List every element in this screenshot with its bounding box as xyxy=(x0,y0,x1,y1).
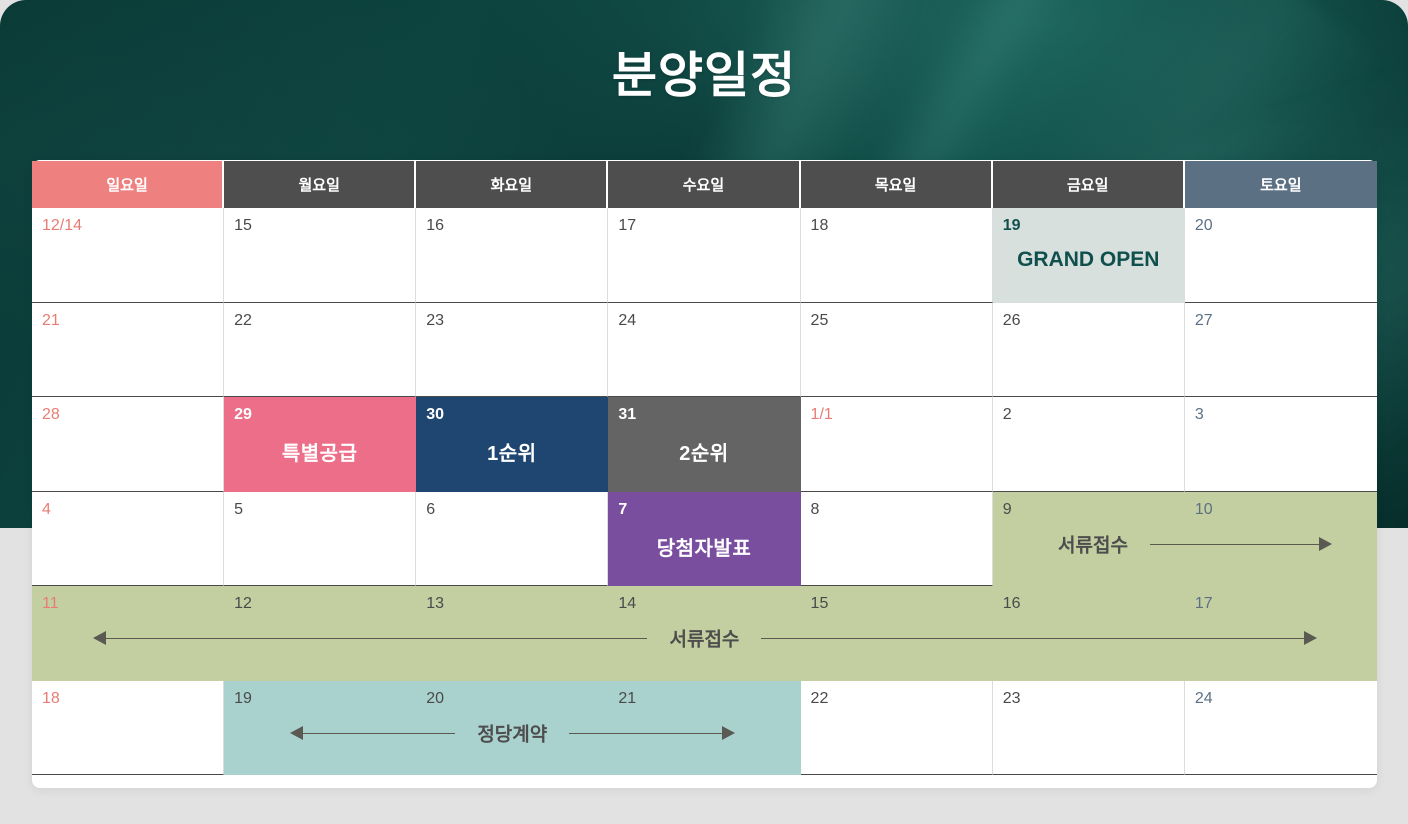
day-number: 21 xyxy=(618,691,636,707)
day-number: 20 xyxy=(1195,218,1213,234)
calendar-day-cell[interactable]: 15 xyxy=(801,586,993,681)
calendar-day-cell[interactable]: 14 xyxy=(608,586,800,681)
day-number: 16 xyxy=(1003,596,1021,612)
calendar-day-cell[interactable]: 24 xyxy=(608,303,800,398)
day-number: 10 xyxy=(1195,502,1213,518)
calendar-week-row: 4567당첨자발표8910910서류접수 xyxy=(32,492,1377,587)
calendar-day-cell[interactable]: 22 xyxy=(801,681,993,776)
day-number: 24 xyxy=(618,313,636,329)
calendar-day-cell[interactable]: 21 xyxy=(32,303,224,398)
calendar-day-cell[interactable]: 22 xyxy=(224,303,416,398)
calendar-week-row: 21222324252627 xyxy=(32,303,1377,398)
calendar-day-cell[interactable]: 15 xyxy=(224,208,416,303)
calendar-day-cell[interactable]: 2 xyxy=(993,397,1185,492)
day-of-week-label: 목요일 xyxy=(875,174,916,195)
calendar-header-row: 일요일월요일화요일수요일목요일금요일토요일 xyxy=(32,161,1377,208)
calendar-week-row: 1112131415161711121314151617서류접수 xyxy=(32,586,1377,681)
day-number: 15 xyxy=(811,596,829,612)
day-number: 28 xyxy=(42,407,60,423)
calendar-day-cell[interactable]: 11 xyxy=(32,586,224,681)
day-of-week-label: 수요일 xyxy=(683,174,724,195)
day-number: 23 xyxy=(1003,691,1021,707)
day-number: 25 xyxy=(811,313,829,329)
calendar-day-cell[interactable]: 20 xyxy=(1185,208,1377,303)
calendar-day-cell[interactable]: 17 xyxy=(608,208,800,303)
calendar-day-cell[interactable]: 25 xyxy=(801,303,993,398)
day-of-week-label: 토요일 xyxy=(1260,174,1301,195)
calendar-day-cell[interactable]: 301순위 xyxy=(416,397,608,492)
calendar-day-cell[interactable]: 1/1 xyxy=(801,397,993,492)
calendar-day-cell[interactable]: 19 xyxy=(224,681,416,776)
day-number: 7 xyxy=(618,502,627,518)
calendar-day-cell[interactable]: 16 xyxy=(993,586,1185,681)
day-number: 23 xyxy=(426,313,444,329)
day-number: 17 xyxy=(618,218,636,234)
day-number: 14 xyxy=(618,596,636,612)
calendar-grid: 12/141516171819GRAND OPEN202122232425262… xyxy=(32,208,1377,775)
day-of-week-label: 금요일 xyxy=(1067,174,1108,195)
day-number: 3 xyxy=(1195,407,1204,423)
calendar-day-cell[interactable]: 27 xyxy=(1185,303,1377,398)
day-of-week-label: 월요일 xyxy=(298,174,339,195)
day-number: 19 xyxy=(234,691,252,707)
calendar-day-cell[interactable]: 10 xyxy=(1185,492,1377,587)
day-number: 22 xyxy=(234,313,252,329)
day-number: 13 xyxy=(426,596,444,612)
day-number: 19 xyxy=(1003,218,1021,234)
day-number: 30 xyxy=(426,407,444,423)
event-label: 2순위 xyxy=(608,437,799,466)
day-number: 18 xyxy=(811,218,829,234)
day-number: 22 xyxy=(811,691,829,707)
calendar-day-cell[interactable]: 18 xyxy=(801,208,993,303)
calendar-day-cell[interactable]: 9 xyxy=(993,492,1185,587)
day-of-week-header-2: 화요일 xyxy=(416,161,608,208)
calendar-day-cell[interactable]: 5 xyxy=(224,492,416,587)
calendar-day-cell[interactable]: 4 xyxy=(32,492,224,587)
day-number: 15 xyxy=(234,218,252,234)
calendar-day-cell[interactable]: 23 xyxy=(993,681,1185,776)
calendar-day-cell[interactable]: 19GRAND OPEN xyxy=(993,208,1185,303)
event-label: 특별공급 xyxy=(224,437,415,466)
day-number: 12/14 xyxy=(42,218,82,234)
calendar-day-cell[interactable]: 13 xyxy=(416,586,608,681)
day-number: 11 xyxy=(42,596,59,612)
day-of-week-header-1: 월요일 xyxy=(224,161,416,208)
calendar-day-cell[interactable]: 26 xyxy=(993,303,1185,398)
day-of-week-header-4: 목요일 xyxy=(801,161,993,208)
day-number: 2 xyxy=(1003,407,1012,423)
day-number: 31 xyxy=(618,407,636,423)
calendar-day-cell[interactable]: 12 xyxy=(224,586,416,681)
day-number: 16 xyxy=(426,218,444,234)
calendar-day-cell[interactable]: 28 xyxy=(32,397,224,492)
calendar-day-cell[interactable]: 12/14 xyxy=(32,208,224,303)
calendar-day-cell[interactable]: 24 xyxy=(1185,681,1377,776)
calendar-day-cell[interactable]: 3 xyxy=(1185,397,1377,492)
day-of-week-label: 일요일 xyxy=(106,174,147,195)
event-label: 당첨자발표 xyxy=(608,532,799,561)
day-of-week-header-3: 수요일 xyxy=(608,161,800,208)
day-number: 24 xyxy=(1195,691,1213,707)
day-number: 18 xyxy=(42,691,60,707)
day-number: 8 xyxy=(811,502,820,518)
calendar-day-cell[interactable]: 7당첨자발표 xyxy=(608,492,800,587)
event-label: GRAND OPEN xyxy=(993,248,1184,272)
day-number: 29 xyxy=(234,407,252,423)
day-number: 26 xyxy=(1003,313,1021,329)
day-number: 6 xyxy=(426,502,435,518)
day-of-week-header-6: 토요일 xyxy=(1185,161,1377,208)
day-number: 5 xyxy=(234,502,243,518)
day-number: 17 xyxy=(1195,596,1213,612)
day-number: 1/1 xyxy=(811,407,833,423)
day-number: 9 xyxy=(1003,502,1012,518)
calendar-day-cell[interactable]: 23 xyxy=(416,303,608,398)
event-label: 1순위 xyxy=(416,437,607,466)
day-number: 12 xyxy=(234,596,252,612)
calendar-week-row: 18192021222324192021정당계약 xyxy=(32,681,1377,776)
day-of-week-label: 화요일 xyxy=(491,174,532,195)
calendar-day-cell[interactable]: 21 xyxy=(608,681,800,776)
day-number: 21 xyxy=(42,313,60,329)
calendar-day-cell[interactable]: 312순위 xyxy=(608,397,800,492)
calendar-day-cell[interactable]: 17 xyxy=(1185,586,1377,681)
day-of-week-header-0: 일요일 xyxy=(32,161,224,208)
day-number: 4 xyxy=(42,502,51,518)
calendar-week-row: 12/141516171819GRAND OPEN20 xyxy=(32,208,1377,303)
calendar-week-row: 2829특별공급301순위312순위1/123 xyxy=(32,397,1377,492)
calendar-day-cell[interactable]: 8 xyxy=(801,492,993,587)
day-number: 27 xyxy=(1195,313,1213,329)
calendar-day-cell[interactable]: 20 xyxy=(416,681,608,776)
calendar-day-cell[interactable]: 6 xyxy=(416,492,608,587)
calendar-day-cell[interactable]: 29특별공급 xyxy=(224,397,416,492)
calendar-day-cell[interactable]: 16 xyxy=(416,208,608,303)
calendar-day-cell[interactable]: 18 xyxy=(32,681,224,776)
day-of-week-header-5: 금요일 xyxy=(993,161,1185,208)
page-title: 분양일정 xyxy=(0,47,1408,106)
day-number: 20 xyxy=(426,691,444,707)
